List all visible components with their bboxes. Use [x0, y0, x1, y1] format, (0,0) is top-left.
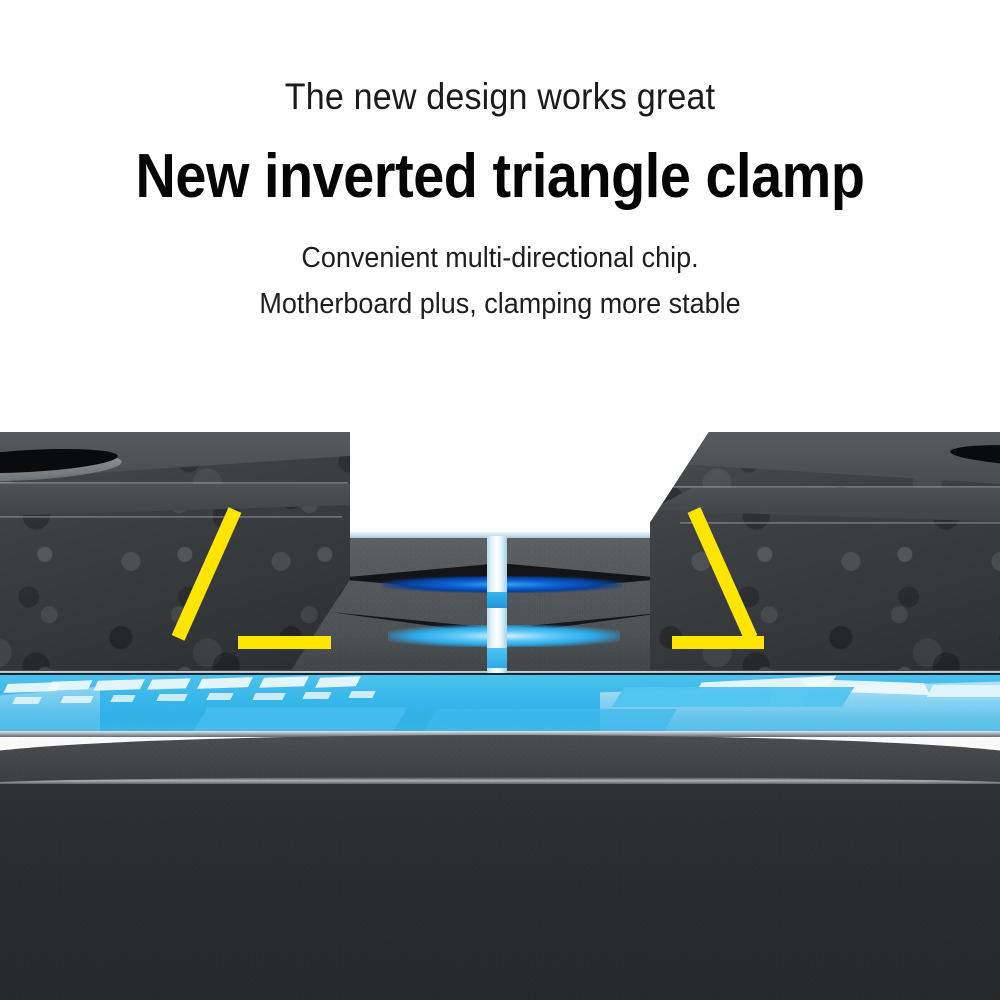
band-letter-mark-4	[147, 678, 191, 689]
band-letter-mark-6	[259, 676, 309, 688]
eyebrow-text: The new design works great	[40, 76, 960, 118]
band-logo-panel-2	[192, 707, 407, 733]
product-feature-image: The new design works great New inverted …	[0, 0, 1000, 1000]
foreground-base-lower	[0, 784, 1000, 1000]
band-logo-panel-4	[927, 685, 1000, 697]
band-subletter-mark-2	[60, 696, 93, 703]
page-title: New inverted triangle clamp	[50, 141, 950, 212]
right-clamp-jaw	[650, 432, 1000, 670]
band-subletter-mark-1	[12, 697, 41, 704]
left-callout-base	[238, 636, 331, 649]
right-jaw-edge-2	[680, 522, 1000, 524]
band-subletter-mark-7	[302, 692, 331, 699]
right-callout-base	[672, 636, 764, 649]
band-logo-panel-3	[423, 709, 677, 733]
band-letter-mark-3	[93, 679, 145, 691]
subtitle-line-2: Motherboard plus, clamping more stable	[35, 288, 965, 321]
header-text-block: The new design works great New inverted …	[0, 0, 1000, 432]
product-photo	[0, 432, 1000, 1000]
center-strip-accent-lower	[487, 648, 507, 668]
band-subletter-mark-4	[156, 694, 187, 701]
left-jaw-edge-1	[0, 482, 348, 484]
band-subletter-mark-6	[252, 693, 285, 700]
foreground-lower-grain	[0, 784, 1000, 1000]
band-subletter-mark-3	[110, 695, 135, 702]
band-letter-mark-5	[197, 677, 253, 689]
left-jaw-edge-2	[0, 516, 342, 518]
band-subletter-mark-5	[206, 693, 233, 700]
band-letter-mark-7	[315, 676, 361, 687]
right-jaw-edge-1	[664, 486, 1000, 488]
branded-cyan-band	[0, 675, 1000, 733]
band-letter-mark-2	[47, 680, 92, 690]
band-logo-panel-1	[612, 687, 854, 707]
subtitle-line-1: Convenient multi-directional chip.	[35, 242, 965, 275]
band-subletter-mark-8	[348, 691, 375, 698]
center-strip-accent-upper	[487, 592, 507, 608]
